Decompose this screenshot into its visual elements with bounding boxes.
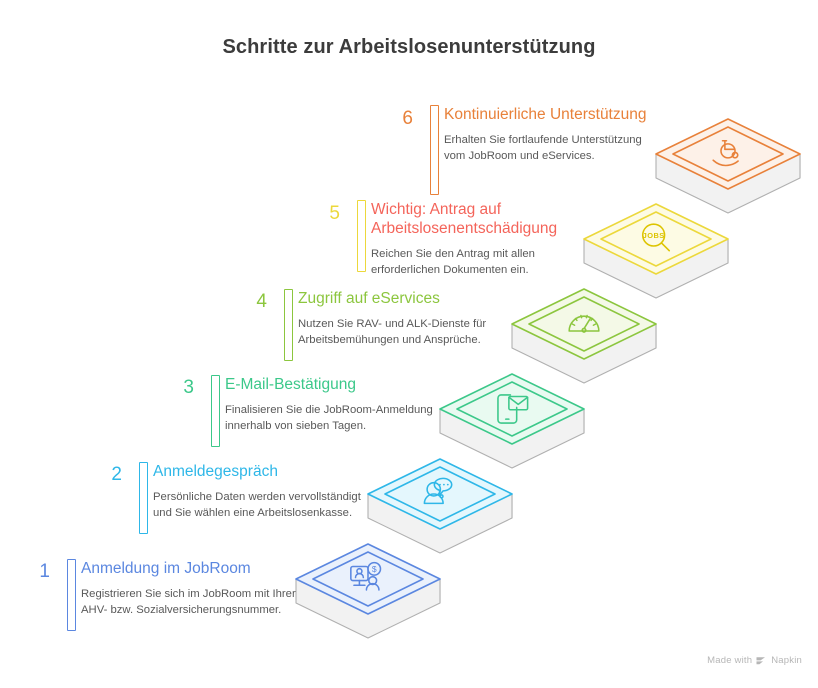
step-accent-bar-2: [139, 462, 148, 534]
step-number-3: 3: [164, 378, 194, 397]
step-block-3: [440, 374, 584, 468]
step-block-6: [656, 119, 800, 213]
step-heading-1: Anmeldung im JobRoom: [81, 559, 297, 578]
person-monitor-money-icon: [351, 563, 381, 590]
step-block-2: [368, 459, 512, 553]
watermark-prefix: Made with: [707, 655, 752, 666]
step-description-4: Nutzen Sie RAV- und ALK-Dienste für Arbe…: [298, 317, 514, 348]
step-number-1: 1: [20, 562, 50, 581]
step-description-3: Finalisieren Sie die JobRoom-Anmeldung i…: [225, 403, 441, 434]
step-number-4: 4: [237, 292, 267, 311]
step-description-6: Erhalten Sie fortlaufende Unterstützung …: [444, 133, 660, 164]
watermark-brand: Napkin: [771, 655, 802, 666]
step-block-5: [584, 204, 728, 298]
step-description-5: Reichen Sie den Antrag mit allen erforde…: [371, 247, 587, 278]
person-speech-bubble-icon: [424, 478, 451, 503]
step-block-1: [296, 544, 440, 638]
step-accent-bar-4: [284, 289, 293, 361]
step-accent-bar-3: [211, 375, 220, 447]
step-heading-2: Anmeldegespräch: [153, 462, 369, 481]
step-number-6: 6: [383, 109, 413, 128]
step-accent-bar-6: [430, 105, 439, 195]
hand-wheelchair-support-icon: [713, 141, 738, 166]
step-accent-bar-1: [67, 559, 76, 631]
step-number-5: 5: [310, 204, 340, 223]
step-description-2: Persönliche Daten werden vervollständigt…: [153, 490, 369, 521]
napkin-logo-icon: [756, 656, 767, 666]
made-with-napkin-watermark: Made with Napkin: [707, 655, 802, 666]
page-title: Schritte zur Arbeitslosenunterstützung: [0, 36, 818, 59]
step-heading-6: Kontinuierliche Unterstützung: [444, 105, 660, 124]
gauge-speedometer-icon: [569, 315, 599, 332]
step-heading-4: Zugriff auf eServices: [298, 289, 514, 308]
magnifier-jobs-icon: [643, 224, 670, 251]
step-heading-5: Wichtig: Antrag auf Arbeitslosenentschäd…: [371, 200, 587, 238]
step-block-4: [512, 289, 656, 383]
step-heading-3: E-Mail-Bestätigung: [225, 375, 441, 394]
step-number-2: 2: [92, 465, 122, 484]
step-description-1: Registrieren Sie sich im JobRoom mit Ihr…: [81, 587, 297, 618]
step-accent-bar-5: [357, 200, 366, 272]
phone-envelope-icon: [498, 395, 528, 423]
